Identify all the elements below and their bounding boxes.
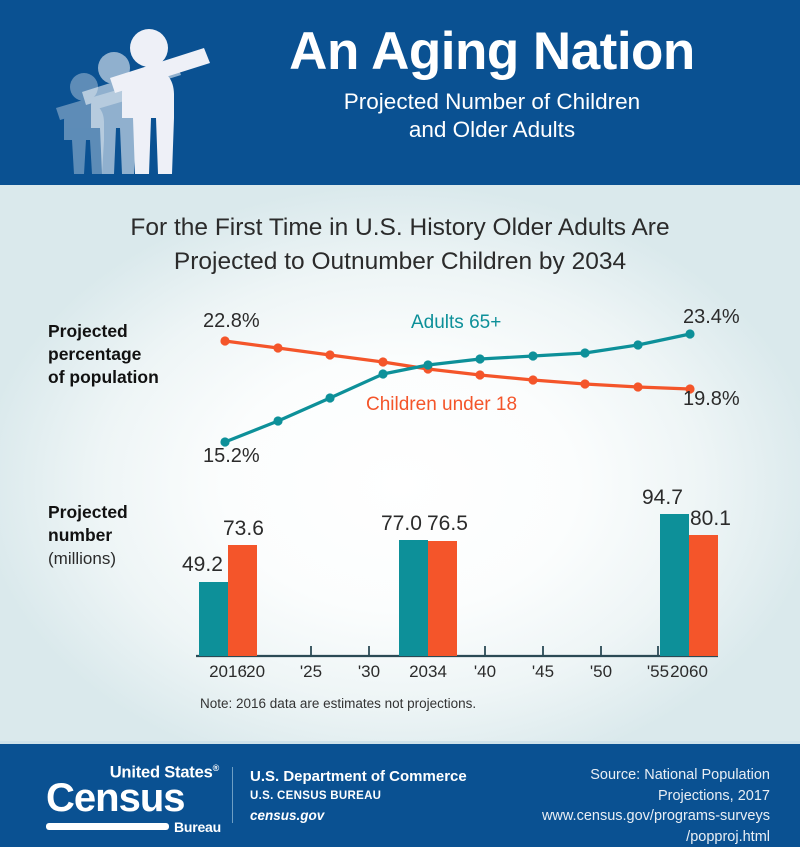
registered-mark-icon: ® [213, 763, 219, 773]
bar-2034-children [428, 541, 457, 656]
bar-2034-adults [399, 540, 428, 656]
children-start-value: 22.8% [203, 310, 260, 333]
page-title: An Aging Nation [212, 24, 772, 79]
infographic-page: An Aging Nation Projected Number of Chil… [0, 0, 800, 847]
headline: For the First Time in U.S. History Older… [60, 211, 740, 278]
tick-45: '45 [523, 662, 563, 682]
headline-line-1: For the First Time in U.S. History Older… [130, 214, 669, 241]
subtitle-line-1: Projected Number of Children [344, 89, 640, 114]
source-block: Source: National Population Projections,… [542, 765, 770, 847]
tick-20: '20 [234, 662, 274, 682]
source-line-4[interactable]: /popproj.html [686, 829, 770, 845]
footer-vertical-divider [232, 767, 233, 823]
bar-2060-adults [660, 514, 689, 656]
line-chart-plot [0, 300, 800, 485]
dept-census-bureau: U.S. CENSUS BUREAU [250, 790, 467, 802]
source-line-1: Source: National Population [590, 767, 770, 783]
tick-2034: 2034 [398, 662, 458, 682]
source-line-2: Projections, 2017 [658, 788, 770, 804]
census-bureau-logo: United States® Census Bureau [46, 763, 221, 835]
source-line-3[interactable]: www.census.gov/programs-surveys [542, 808, 770, 824]
dept-census-gov[interactable]: census.gov [250, 808, 467, 823]
footer-divider-rule [0, 741, 800, 744]
chart-note: Note: 2016 data are estimates not projec… [200, 696, 476, 711]
footer-banner: United States® Census Bureau U.S. Depart… [0, 741, 800, 847]
bar-value-2016-children: 73.6 [223, 517, 264, 541]
bar-2016-adults [199, 582, 228, 656]
bar-value-2034-children: 76.5 [427, 512, 468, 536]
legend-adults-65plus: Adults 65+ [411, 312, 501, 334]
dept-commerce: U.S. Department of Commerce [250, 768, 467, 785]
adults-end-value: 23.4% [683, 306, 740, 329]
adults-start-value: 15.2% [203, 445, 260, 468]
title-block: An Aging Nation Projected Number of Chil… [212, 24, 772, 145]
headline-line-2: Projected to Outnumber Children by 2034 [174, 248, 626, 275]
three-people-icon [52, 22, 212, 177]
header-banner: An Aging Nation Projected Number of Chil… [0, 0, 800, 185]
children-end-value: 19.8% [683, 388, 740, 411]
tick-2060: 2060 [659, 662, 719, 682]
bar-chart: Projected number (millions) [0, 493, 800, 728]
bar-value-2060-adults: 94.7 [642, 486, 683, 510]
tick-25: '25 [291, 662, 331, 682]
legend-children-under-18: Children under 18 [366, 394, 517, 416]
tick-50: '50 [581, 662, 621, 682]
line-chart: Projected percentage of population [0, 300, 800, 485]
body-area: For the First Time in U.S. History Older… [0, 185, 800, 741]
logo-bar-row: Bureau [46, 819, 221, 835]
tick-30: '30 [349, 662, 389, 682]
department-block: U.S. Department of Commerce U.S. CENSUS … [250, 768, 467, 823]
logo-rule-icon [46, 823, 169, 830]
page-subtitle: Projected Number of Children and Older A… [212, 88, 772, 145]
logo-census-wordmark: Census [46, 779, 221, 817]
bar-value-2016-adults: 49.2 [182, 553, 223, 577]
tick-40: '40 [465, 662, 505, 682]
subtitle-line-2: and Older Adults [409, 117, 575, 142]
logo-bureau-text: Bureau [174, 819, 221, 835]
bar-value-2034-adults: 77.0 [381, 512, 422, 536]
bar-2060-children [689, 535, 718, 656]
bar-value-2060-children: 80.1 [690, 507, 731, 531]
bar-2016-children [228, 545, 257, 656]
